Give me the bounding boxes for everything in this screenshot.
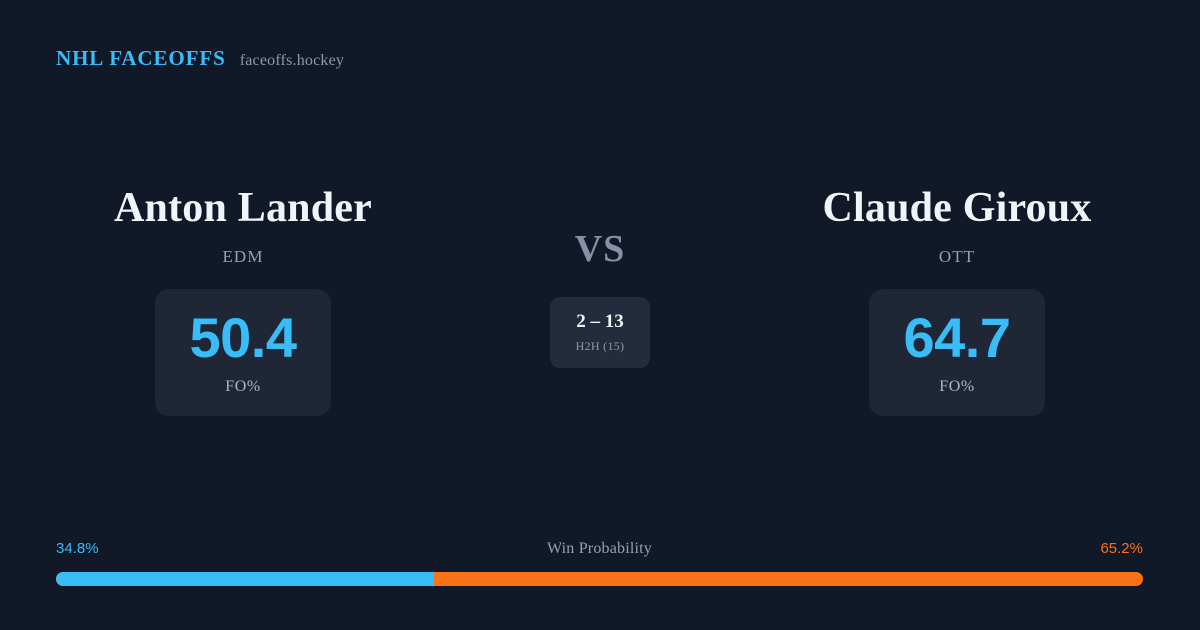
head-to-head-record: 2 – 13 [576, 312, 624, 331]
player-card-left: Anton Lander EDM 50.4 FO% [0, 186, 486, 416]
win-probability-left-fill [56, 572, 434, 586]
player-team-abbr: OTT [939, 247, 975, 267]
faceoff-percentage-label: FO% [939, 378, 975, 396]
faceoff-percentage-label: FO% [225, 378, 261, 396]
brand-domain: faceoffs.hockey [240, 52, 344, 70]
player-name[interactable]: Claude Giroux [822, 186, 1091, 230]
faceoff-matchup-page: NHL FACEOFFS faceoffs.hockey Anton Lande… [0, 0, 1200, 630]
win-probability-section: 34.8% Win Probability 65.2% [56, 540, 1143, 586]
faceoff-percentage-value: 50.4 [190, 310, 297, 366]
head-to-head-badge: 2 – 13 H2H (15) [550, 297, 650, 368]
player-name[interactable]: Anton Lander [114, 186, 372, 230]
versus-label: VS [575, 230, 626, 268]
win-probability-labels: 34.8% Win Probability 65.2% [56, 540, 1143, 562]
head-to-head-caption: H2H (15) [576, 339, 625, 354]
faceoff-percentage-value: 64.7 [904, 310, 1011, 366]
faceoff-stat-card: 50.4 FO% [155, 289, 331, 416]
win-probability-title: Win Probability [56, 540, 1143, 558]
versus-column: VS 2 – 13 H2H (15) [486, 186, 714, 368]
player-team-abbr: EDM [222, 247, 263, 267]
matchup-section: Anton Lander EDM 50.4 FO% VS 2 – 13 H2H … [0, 186, 1200, 416]
site-header: NHL FACEOFFS faceoffs.hockey [56, 46, 344, 71]
faceoff-stat-card: 64.7 FO% [869, 289, 1045, 416]
win-probability-bar [56, 572, 1143, 586]
player-card-right: Claude Giroux OTT 64.7 FO% [714, 186, 1200, 416]
win-probability-right-value: 65.2% [1100, 540, 1143, 557]
brand-title[interactable]: NHL FACEOFFS [56, 46, 226, 71]
